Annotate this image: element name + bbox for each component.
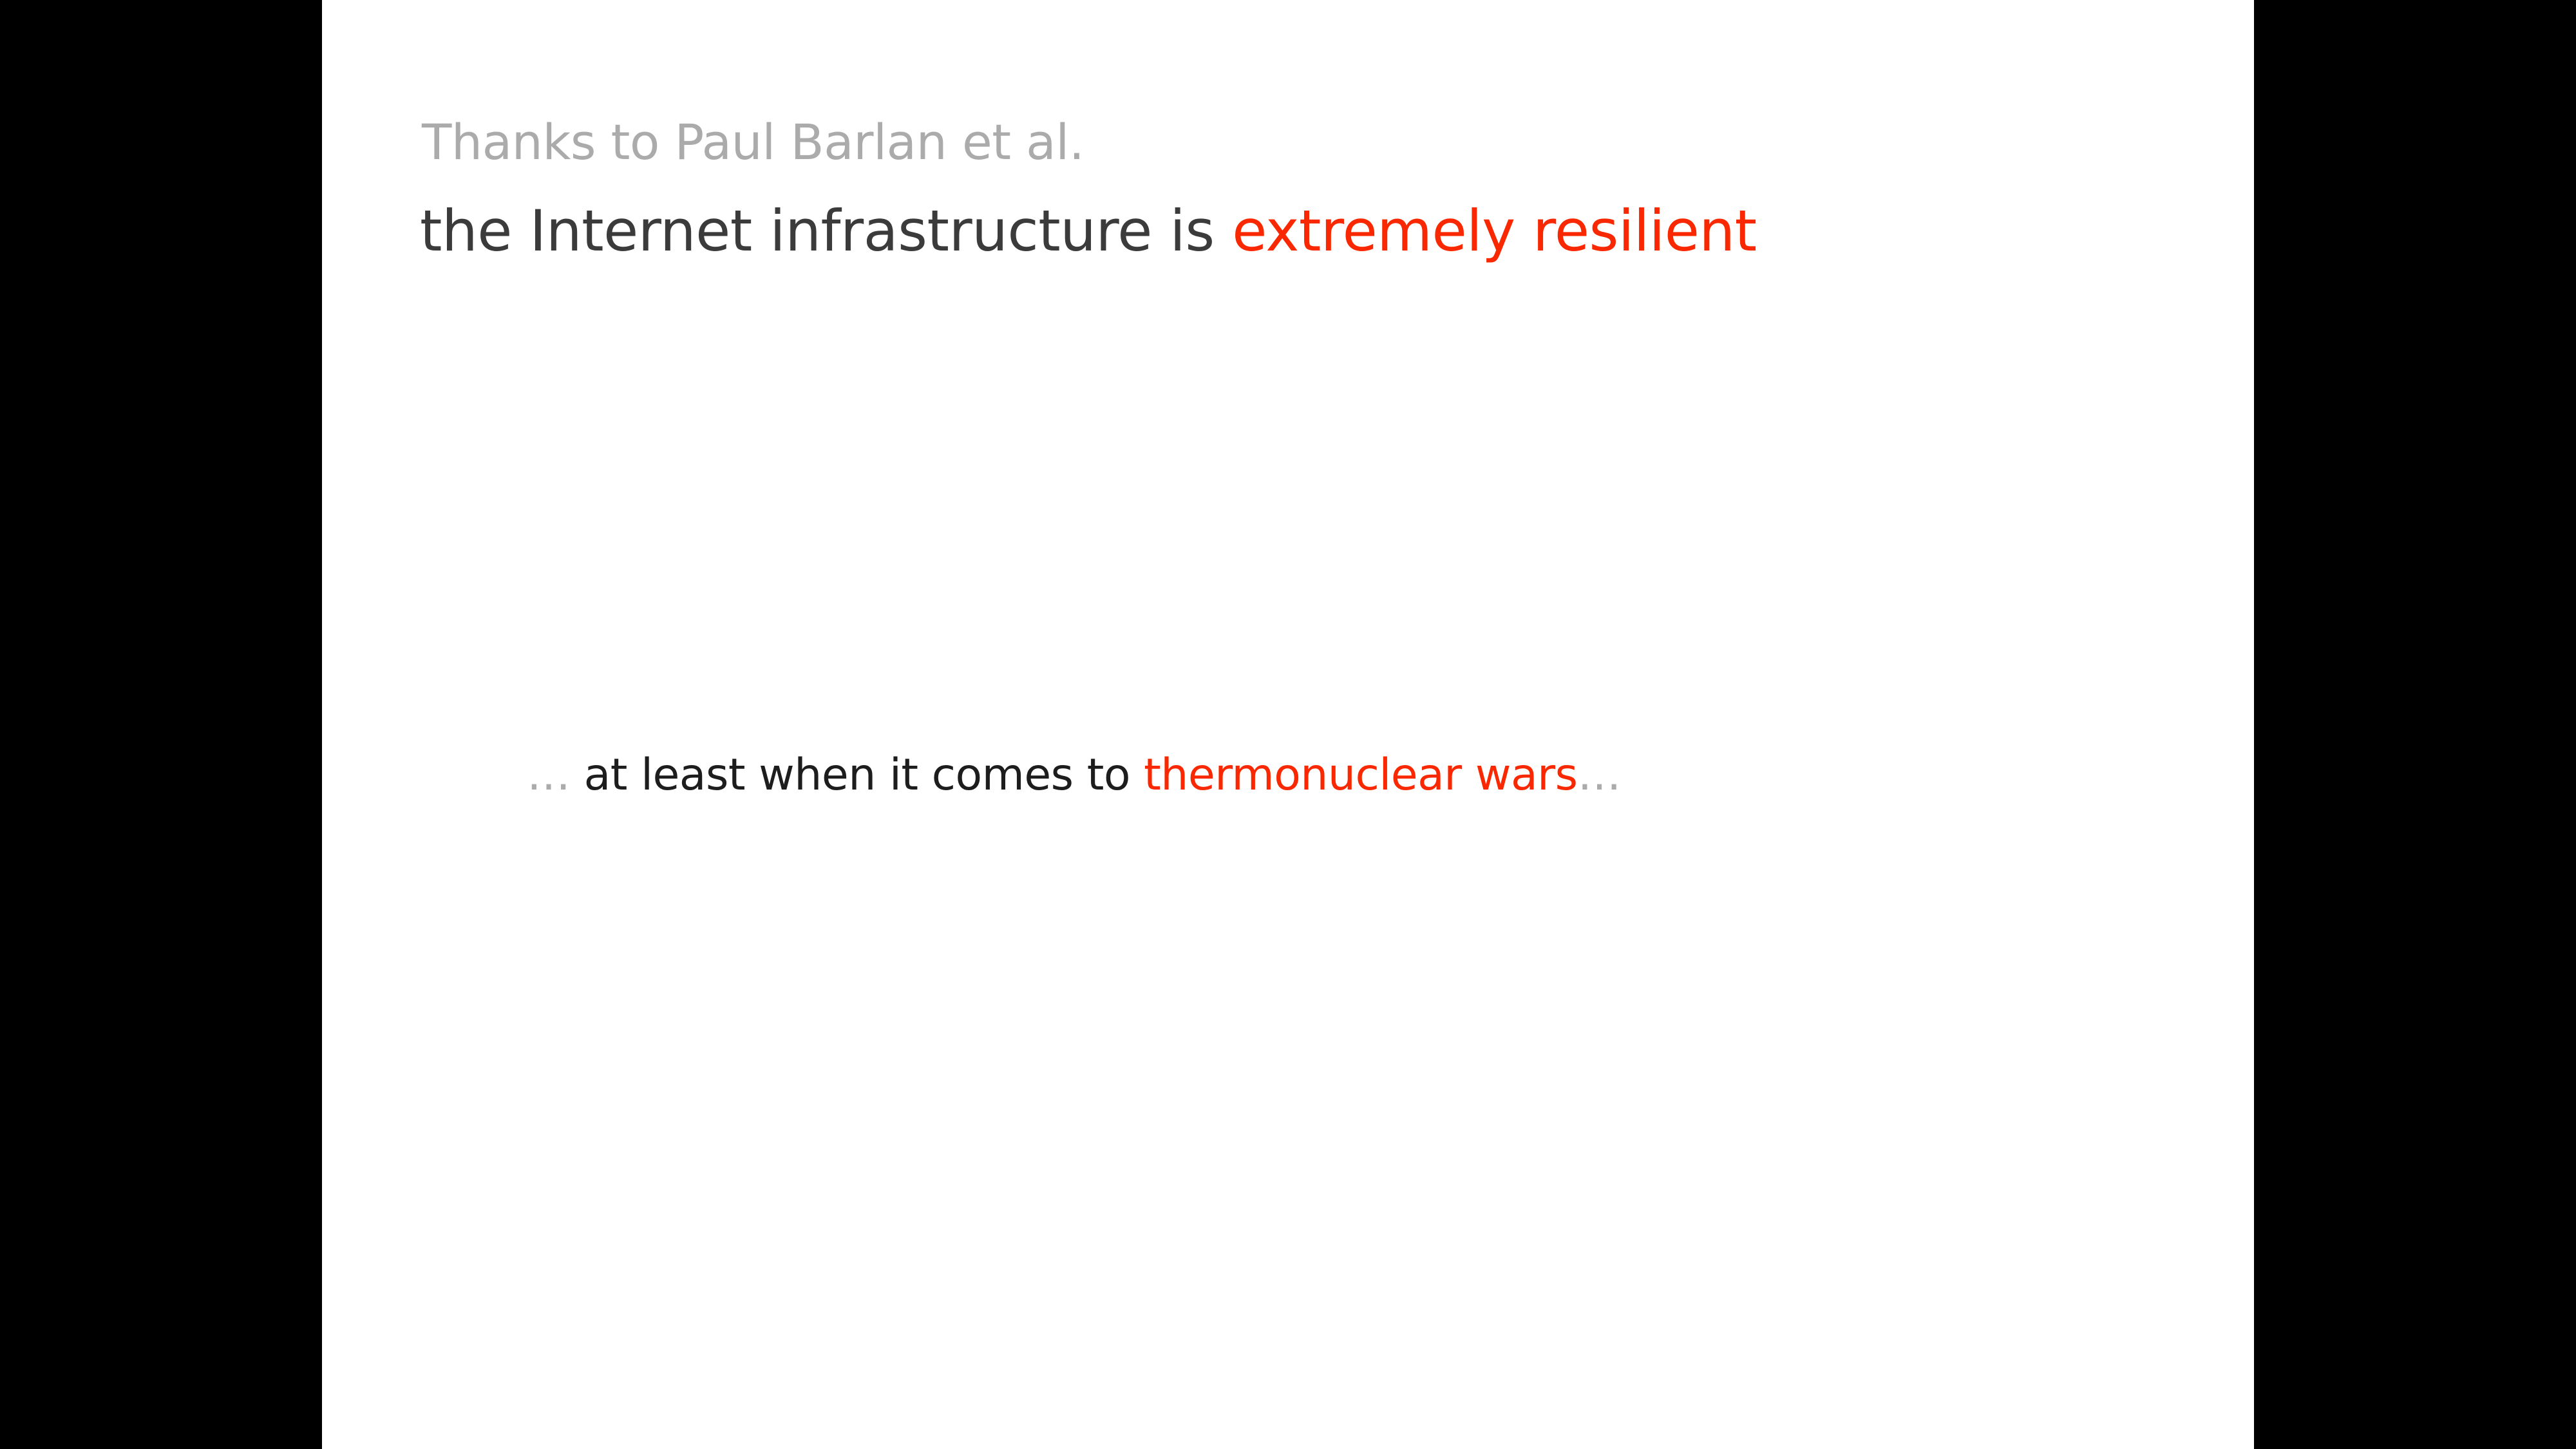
caveat-leading-ellipsis: …	[527, 750, 584, 800]
letterbox-bar-right	[2254, 0, 2576, 1449]
headline-line: the Internet infrastructure is extremely…	[420, 197, 1757, 265]
headline-lead-text: the Internet infrastructure is	[420, 198, 1232, 264]
caveat-line: … at least when it comes to thermonuclea…	[527, 749, 1621, 802]
slide-root: Thanks to Paul Barlan et al. the Interne…	[0, 0, 2576, 1449]
caveat-trailing-ellipsis: …	[1578, 750, 1622, 800]
headline-emphasis-text: extremely resilient	[1232, 198, 1756, 264]
slide-canvas: Thanks to Paul Barlan et al. the Interne…	[322, 0, 2254, 1449]
credit-line-text: Thanks to Paul Barlan et al.	[422, 113, 1084, 171]
caveat-emphasis-text: thermonuclear wars	[1144, 750, 1577, 800]
credit-line: Thanks to Paul Barlan et al.	[422, 113, 1084, 172]
caveat-lead-text: at least when it comes to	[584, 750, 1144, 800]
letterbox-bar-left	[0, 0, 322, 1449]
